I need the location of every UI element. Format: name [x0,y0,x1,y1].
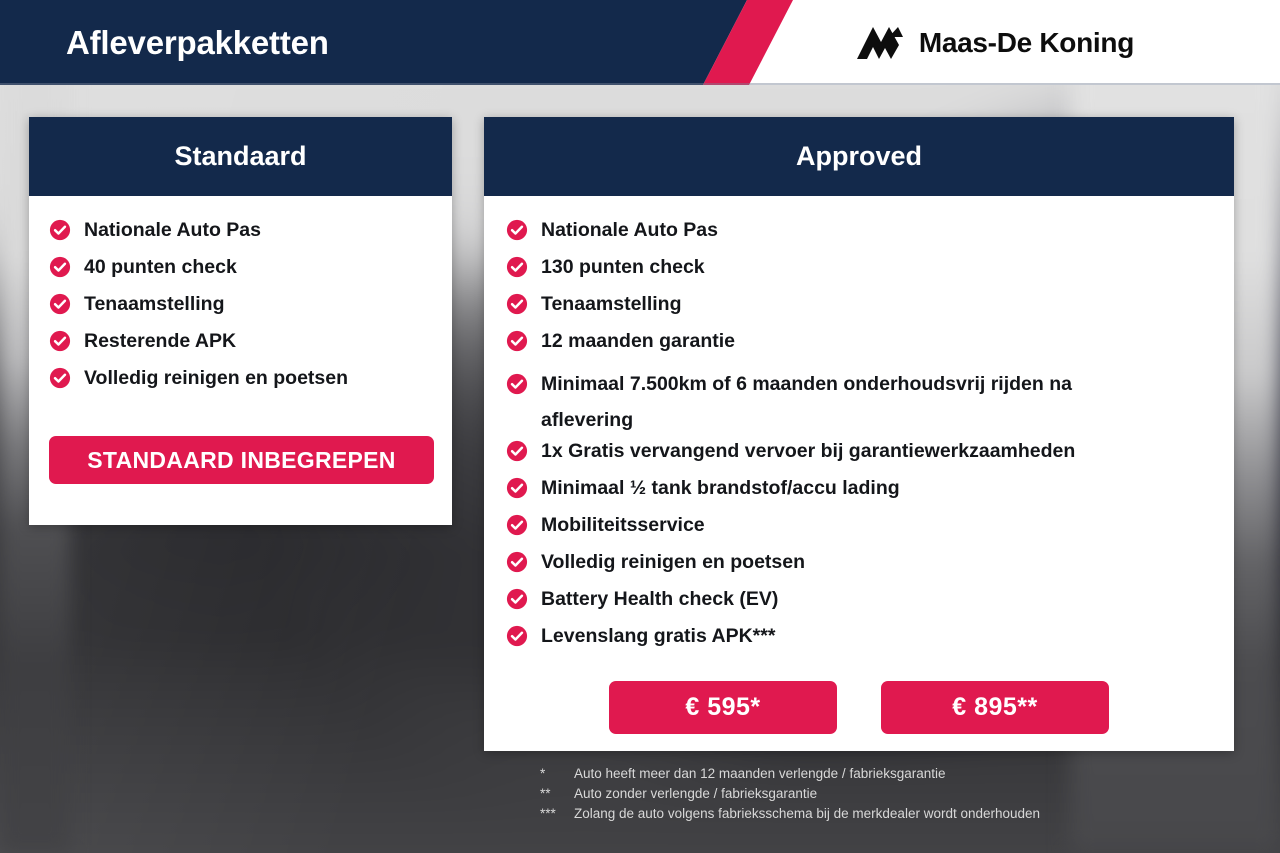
check-circle-icon [49,293,71,315]
feature-label: Tenaamstelling [84,292,225,316]
list-item: Volledig reinigen en poetsen [49,366,452,390]
header-underline [0,83,1280,85]
list-item: Minimaal ½ tank brandstof/accu lading [506,476,1234,500]
footnotes: * Auto heeft meer dan 12 maanden verleng… [540,764,1040,824]
maas-de-koning-m-logo-icon [855,25,905,61]
check-circle-icon [506,477,528,499]
footnote-row: ** Auto zonder verlengde / fabrieksgaran… [540,784,1040,804]
feature-label: Minimaal ½ tank brandstof/accu lading [541,476,900,500]
feature-label: Tenaamstelling [541,292,682,316]
check-circle-icon [49,219,71,241]
check-circle-icon [506,219,528,241]
feature-label: Nationale Auto Pas [84,218,261,242]
check-circle-icon [49,256,71,278]
check-circle-icon [506,514,528,536]
package-card-approved: Approved Nationale Auto Pas 130 punten c… [484,117,1234,751]
feature-label: Mobiliteitsservice [541,513,705,537]
card-body-standaard: Nationale Auto Pas 40 punten check Tenaa… [29,196,452,390]
check-circle-icon [506,330,528,352]
feature-label: Levenslang gratis APK*** [541,624,775,648]
footnote-row: *** Zolang de auto volgens fabrieksschem… [540,804,1040,824]
brand-logo: Maas-De Koning [855,0,1134,85]
footnote-text: Auto zonder verlengde / fabrieksgarantie [574,784,817,804]
price-button-row: € 595* € 895** [484,681,1234,734]
list-item: 1x Gratis vervangend vervoer bij garanti… [506,439,1234,463]
footnote-row: * Auto heeft meer dan 12 maanden verleng… [540,764,1040,784]
feature-list-standaard: Nationale Auto Pas 40 punten check Tenaa… [29,196,452,390]
footnote-marker: * [540,764,574,784]
card-body-approved: Nationale Auto Pas 130 punten check Tena… [484,196,1234,648]
footnote-marker: *** [540,804,574,824]
list-item: Tenaamstelling [49,292,452,316]
feature-label: Battery Health check (EV) [541,587,778,611]
feature-label: Volledig reinigen en poetsen [84,366,348,390]
price-button-895[interactable]: € 895** [881,681,1109,734]
feature-label: Nationale Auto Pas [541,218,718,242]
footnote-text: Auto heeft meer dan 12 maanden verlengde… [574,764,946,784]
list-item: 130 punten check [506,255,1234,279]
list-item: Levenslang gratis APK*** [506,624,1234,648]
list-item: Tenaamstelling [506,292,1234,316]
check-circle-icon [49,330,71,352]
feature-label: 40 punten check [84,255,237,279]
check-circle-icon [506,551,528,573]
page-title: Afleverpakketten [66,0,329,85]
check-circle-icon [506,293,528,315]
package-card-standaard: Standaard Nationale Auto Pas 40 punten c… [29,117,452,525]
card-title-approved: Approved [484,117,1234,196]
list-item: Mobiliteitsservice [506,513,1234,537]
list-item: 12 maanden garantie [506,329,1234,353]
list-item: Volledig reinigen en poetsen [506,550,1234,574]
list-item: Nationale Auto Pas [49,218,452,242]
footnote-marker: ** [540,784,574,804]
check-circle-icon [506,588,528,610]
feature-label: 130 punten check [541,255,705,279]
feature-label: Resterende APK [84,329,236,353]
feature-label: 12 maanden garantie [541,329,735,353]
footnote-text: Zolang de auto volgens fabrieksschema bi… [574,804,1040,824]
feature-label: Volledig reinigen en poetsen [541,550,805,574]
check-circle-icon [506,373,528,395]
price-button-595[interactable]: € 595* [609,681,837,734]
check-circle-icon [506,625,528,647]
list-item: Battery Health check (EV) [506,587,1234,611]
check-circle-icon [49,367,71,389]
card-title-standaard: Standaard [29,117,452,196]
list-item: Minimaal 7.500km of 6 maanden onderhouds… [506,366,1234,438]
check-circle-icon [506,256,528,278]
list-item: 40 punten check [49,255,452,279]
standaard-inbegrepen-button[interactable]: STANDAARD INBEGREPEN [49,436,434,484]
list-item: Resterende APK [49,329,452,353]
feature-label: 1x Gratis vervangend vervoer bij garanti… [541,439,1075,463]
check-circle-icon [506,440,528,462]
feature-list-approved: Nationale Auto Pas 130 punten check Tena… [484,196,1234,648]
page-header: Afleverpakketten Maas-De Koning [0,0,1280,85]
feature-label: Minimaal 7.500km of 6 maanden onderhouds… [541,366,1126,438]
brand-name: Maas-De Koning [919,27,1134,59]
list-item: Nationale Auto Pas [506,218,1234,242]
